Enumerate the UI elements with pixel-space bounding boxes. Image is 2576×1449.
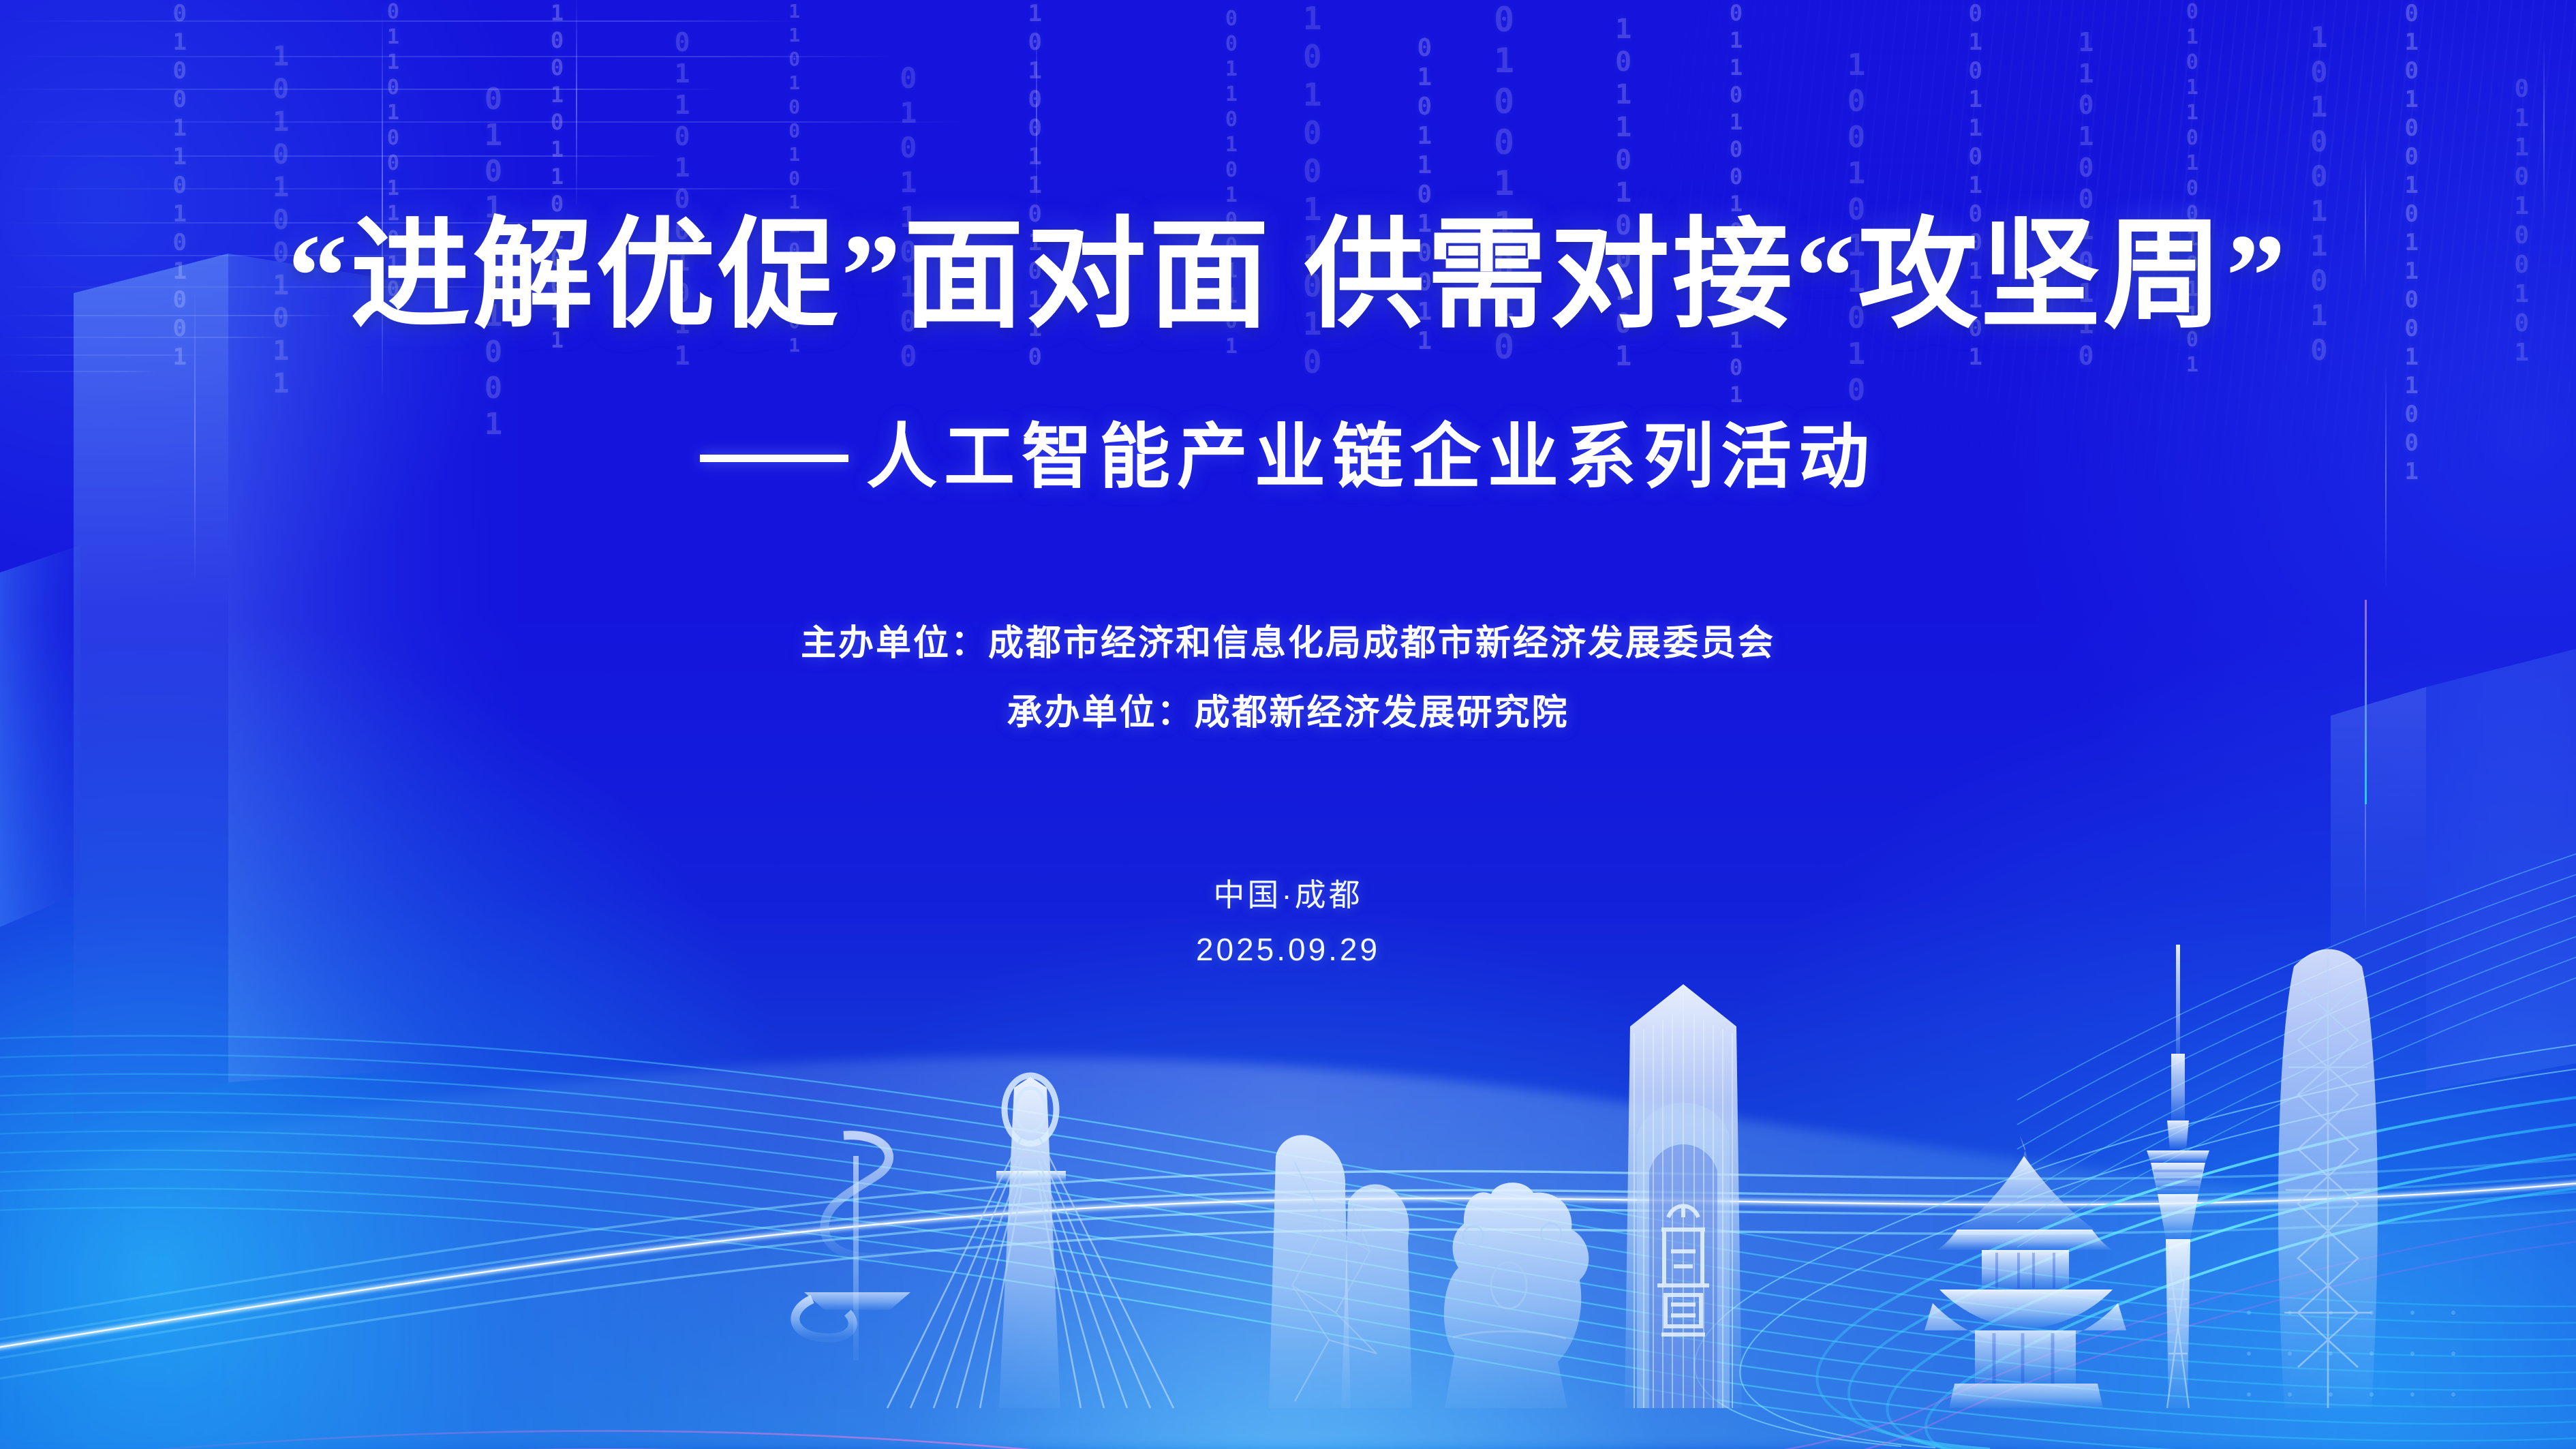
organizer-line-host: 主办单位：成都市经济和信息化局成都市新经济发展委员会 <box>0 626 2576 661</box>
poster-date: 2025.09.29 <box>0 934 2576 965</box>
poster-title: “进解优促”面对面 供需对接“攻坚周” <box>0 217 2576 337</box>
location-date-block: 中国·成都 2025.09.29 <box>0 879 2576 965</box>
organizer-line-co: 承办单位：成都新经济发展研究院 <box>0 695 2576 731</box>
poster-subtitle: 人工智能产业链企业系列活动 <box>866 423 1876 493</box>
poster-subtitle-row: 人工智能产业链企业系列活动 <box>0 423 2576 493</box>
organizer-block: 主办单位：成都市经济和信息化局成都市新经济发展委员会 承办单位：成都新经济发展研… <box>0 626 2576 731</box>
poster-location: 中国·成都 <box>0 879 2576 911</box>
poster-content: “进解优促”面对面 供需对接“攻坚周” 人工智能产业链企业系列活动 主办单位：成… <box>0 0 2576 1449</box>
event-poster: 0100110101001101010010110110100110100101… <box>0 0 2576 1449</box>
subtitle-dash-icon <box>700 455 848 462</box>
